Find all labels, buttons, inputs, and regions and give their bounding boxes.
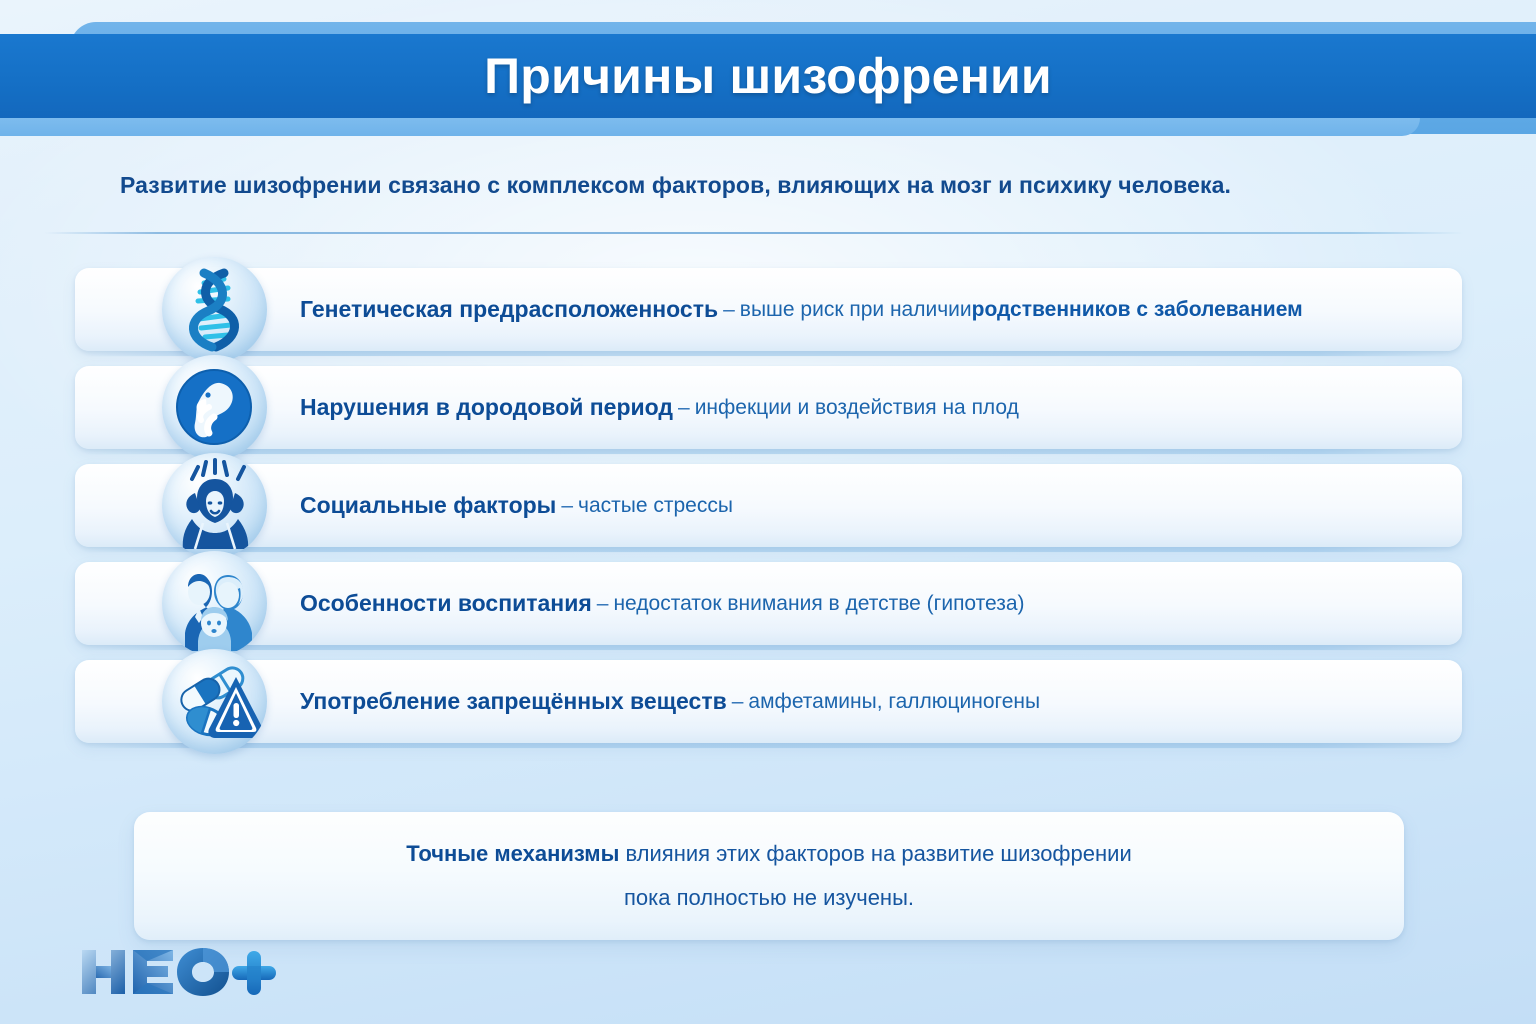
factor-title: Употребление запрещённых веществ xyxy=(300,688,727,715)
neo-plus-logo[interactable] xyxy=(78,944,278,1000)
factor-desc: выше риск при наличии xyxy=(740,298,972,322)
intro-divider xyxy=(44,232,1464,234)
factor-dash: – xyxy=(727,690,749,714)
factor-desc: инфекции и воздействия на плод xyxy=(695,396,1019,420)
header-tab-lower-shape xyxy=(0,118,1420,136)
dna-icon xyxy=(162,257,267,362)
intro-text: Развитие шизофрении связано с комплексом… xyxy=(120,172,1420,199)
factor-desc: частые стрессы xyxy=(578,494,733,518)
header: Причины шизофрении xyxy=(0,0,1536,140)
factor-dash: – xyxy=(718,298,740,322)
family-icon xyxy=(162,551,267,656)
factor-desc: амфетамины, галлюциногены xyxy=(748,690,1040,714)
list-item[interactable]: Особенности воспитания – недостаток вним… xyxy=(0,562,1536,645)
factor-text: Социальные факторы – частые стрессы xyxy=(300,464,1446,547)
factor-dash: – xyxy=(673,396,695,420)
summary-note: Точные механизмы влияния этих факторов н… xyxy=(134,812,1404,940)
factor-title: Социальные факторы xyxy=(300,492,556,519)
factor-desc: недостаток внимания в детстве (гипотеза) xyxy=(613,592,1024,616)
list-item[interactable]: Генетическая предрасположенность – выше … xyxy=(0,268,1536,351)
list-item[interactable]: Употребление запрещённых веществ – амфет… xyxy=(0,660,1536,743)
factor-text: Генетическая предрасположенность – выше … xyxy=(300,268,1446,351)
list-item[interactable]: Нарушения в дородовой период – инфекции … xyxy=(0,366,1536,449)
factor-desc-emphasis: родственников с заболеванием xyxy=(972,298,1303,322)
stress-head-icon xyxy=(162,453,267,558)
factor-text: Особенности воспитания – недостаток вним… xyxy=(300,562,1446,645)
factor-title: Генетическая предрасположенность xyxy=(300,296,718,323)
summary-note-rest: влияния этих факторов на развитие шизофр… xyxy=(619,841,1131,866)
factor-dash: – xyxy=(556,494,578,518)
factor-text: Употребление запрещённых веществ – амфет… xyxy=(300,660,1446,743)
factor-text: Нарушения в дородовой период – инфекции … xyxy=(300,366,1446,449)
summary-note-line-2: пока полностью не изучены. xyxy=(624,876,914,920)
list-item[interactable]: Социальные факторы – частые стрессы xyxy=(0,464,1536,547)
factor-list: Генетическая предрасположенность – выше … xyxy=(0,268,1536,758)
summary-note-line-1: Точные механизмы влияния этих факторов н… xyxy=(406,832,1131,876)
page-title: Причины шизофрении xyxy=(0,34,1536,118)
fetus-icon xyxy=(162,355,267,460)
factor-title: Особенности воспитания xyxy=(300,590,592,617)
factor-title: Нарушения в дородовой период xyxy=(300,394,673,421)
pills-warning-icon xyxy=(162,649,267,754)
factor-dash: – xyxy=(592,592,614,616)
summary-note-bold: Точные механизмы xyxy=(406,841,619,866)
